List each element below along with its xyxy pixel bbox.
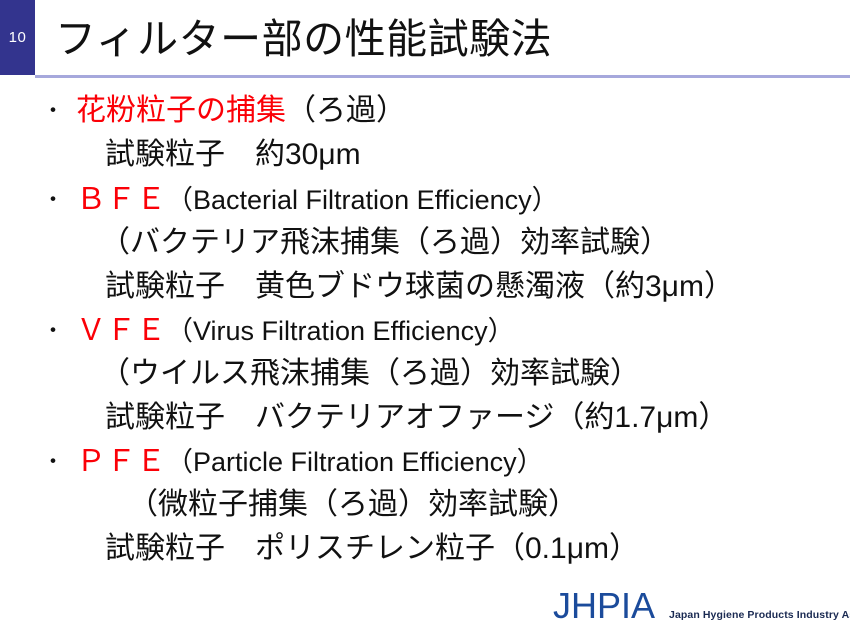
subline-bfe-description: （バクテリア飛沫捕集（ろ過）効率試験） xyxy=(100,228,670,258)
bullet-dot-icon: ・ xyxy=(42,185,76,215)
heading-red-pollen: 花粉粒子の捕集 xyxy=(76,94,286,127)
bullet-dot-icon: ・ xyxy=(42,316,76,346)
heading-black-pfe: （Particle Filtration Efficiency） xyxy=(166,447,544,477)
bullet-dot-icon: ・ xyxy=(42,96,76,126)
subline-pollen-particle: 試験粒子 約30μm xyxy=(105,140,361,170)
subline-bfe-particle: 試験粒子 黄色ブドウ球菌の懸濁液（約3μm） xyxy=(105,272,734,302)
slide-body: ・花粉粒子の捕集（ろ過） 試験粒子 約30μm ・ＢＦＥ（Bacterial F… xyxy=(0,78,850,558)
bullet-line-pfe: ・ＰＦＥ（Particle Filtration Efficiency） xyxy=(42,447,544,477)
bullet-line-bfe: ・ＢＦＥ（Bacterial Filtration Efficiency） xyxy=(42,185,559,215)
page-title: フィルター部の性能試験法 xyxy=(55,9,552,69)
heading-red-vfe: ＶＦＥ xyxy=(76,314,166,347)
bullet-dot-icon: ・ xyxy=(42,447,76,477)
bullet-line-vfe: ・ＶＦＥ（Virus Filtration Efficiency） xyxy=(42,316,515,346)
heading-black-bfe: （Bacterial Filtration Efficiency） xyxy=(166,185,559,215)
slide-number-badge: 10 xyxy=(0,0,35,75)
subline-vfe-description: （ウイルス飛沫捕集（ろ過）効率試験） xyxy=(100,359,640,389)
heading-red-pfe: ＰＦＥ xyxy=(76,445,166,478)
jhpia-subtitle: Japan Hygiene Products Industry Associat… xyxy=(669,609,850,622)
slide-header: 10 フィルター部の性能試験法 xyxy=(0,0,850,78)
subline-vfe-particle: 試験粒子 バクテリアオファージ（約1.7μm） xyxy=(105,403,728,433)
jhpia-logo: JHPIA Japan Hygiene Products Industry As… xyxy=(553,586,850,630)
subline-pfe-description: （微粒子捕集（ろ過）効率試験） xyxy=(128,490,578,520)
heading-black-vfe: （Virus Filtration Efficiency） xyxy=(166,316,515,346)
jhpia-wordmark: JHPIA xyxy=(553,586,655,626)
heading-red-bfe: ＢＦＥ xyxy=(76,183,166,216)
bullet-line-pollen: ・花粉粒子の捕集（ろ過） xyxy=(42,96,406,126)
subline-pfe-particle: 試験粒子 ポリスチレン粒子（0.1μm） xyxy=(105,534,639,564)
heading-black-pollen: （ろ過） xyxy=(286,94,406,127)
